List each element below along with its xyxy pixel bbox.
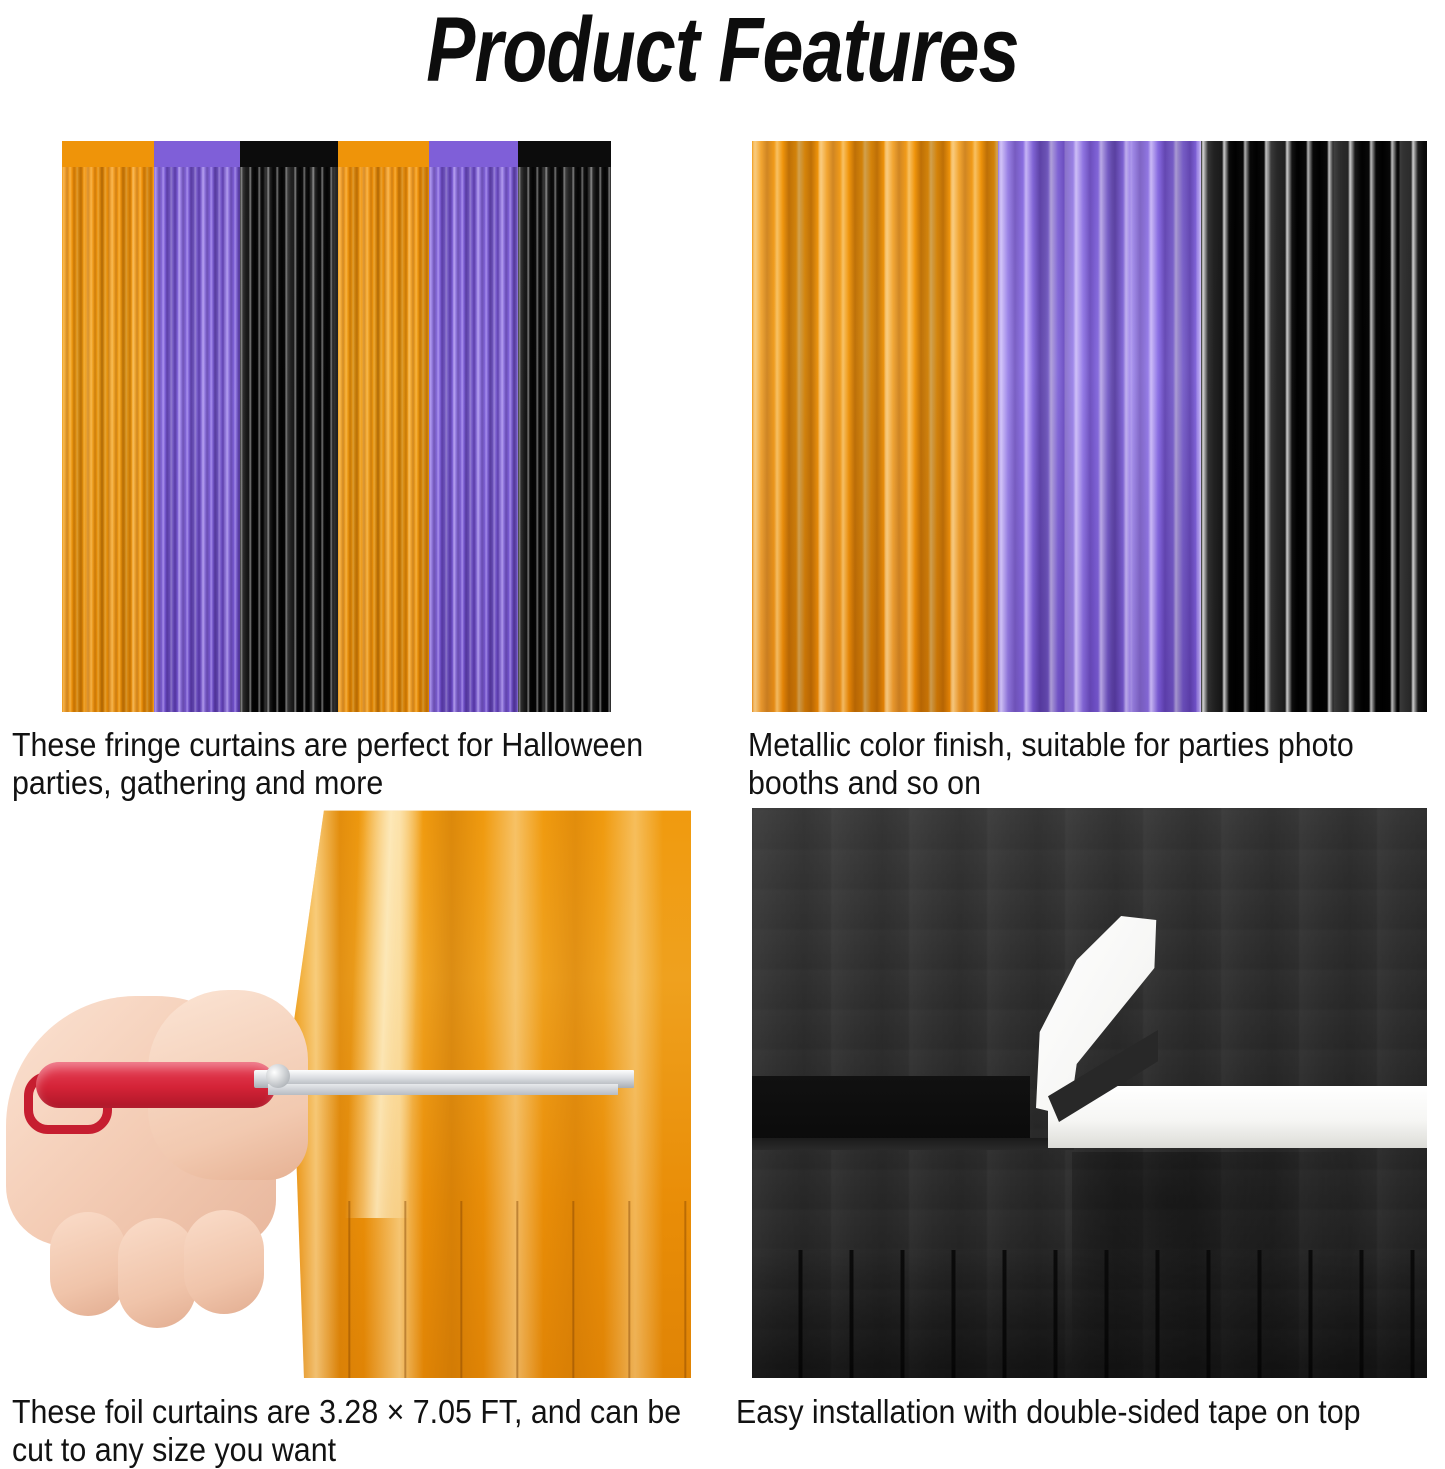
- strip-top-bar: [240, 141, 338, 167]
- strip-top-bar: [429, 141, 518, 167]
- filament-highlight: [154, 141, 240, 712]
- filament-highlight: [429, 141, 518, 712]
- fringe-strip-purple-2: [429, 141, 518, 712]
- scissors: [18, 1046, 648, 1126]
- closeup-band-black: [1201, 141, 1427, 712]
- strip-top-bar: [518, 141, 611, 167]
- strip-top-bar: [154, 141, 240, 167]
- fringe-strip-row: [62, 141, 611, 712]
- closeup-band-purple: [998, 141, 1201, 712]
- fringe-strip-black-1: [240, 141, 338, 712]
- foil-highlight: [998, 141, 1201, 712]
- strip-top-bar: [338, 141, 429, 167]
- metallic-finish-closeup-photo: [752, 141, 1427, 712]
- feature-caption-2: Metallic color finish, suitable for part…: [748, 726, 1410, 802]
- scissors-pivot-screw: [266, 1064, 290, 1088]
- curtain-top-edge-band: [752, 1076, 1030, 1142]
- filament-highlight: [240, 141, 338, 712]
- fringe-strip-purple-1: [154, 141, 240, 712]
- hand-finger-1: [50, 1212, 126, 1316]
- fringe-strip-orange-2: [338, 141, 429, 712]
- filament-highlight: [518, 141, 611, 712]
- double-sided-tape-strip: [1048, 1086, 1427, 1148]
- scissors-cutting-curtain-photo: [0, 806, 691, 1378]
- fringe-strip-black-2: [518, 141, 611, 712]
- closeup-band-orange: [752, 141, 998, 712]
- double-sided-tape-photo: [752, 808, 1427, 1378]
- foil-highlight: [1201, 141, 1427, 712]
- hand-finger-3: [184, 1210, 264, 1314]
- foil-highlight: [752, 141, 998, 712]
- fringe-curtain-six-panel-photo: [62, 141, 611, 712]
- fringe-strip-orange-1: [62, 141, 154, 712]
- black-fringe-shading: [752, 1250, 1427, 1378]
- page-title: Product Features: [145, 2, 1301, 98]
- filament-highlight: [62, 141, 154, 712]
- curtain-fringe-slits: [292, 1201, 691, 1378]
- strip-top-bar: [62, 141, 154, 167]
- feature-caption-4: Easy installation with double-sided tape…: [736, 1393, 1417, 1431]
- filament-highlight: [338, 141, 429, 712]
- feature-caption-1: These fringe curtains are perfect for Ha…: [12, 726, 693, 802]
- scissors-red-handle: [36, 1062, 276, 1108]
- curtain-edge-shadow: [752, 1138, 1074, 1150]
- scissors-blade-lower: [268, 1084, 618, 1095]
- feature-caption-3: These foil curtains are 3.28 × 7.05 FT, …: [12, 1393, 684, 1469]
